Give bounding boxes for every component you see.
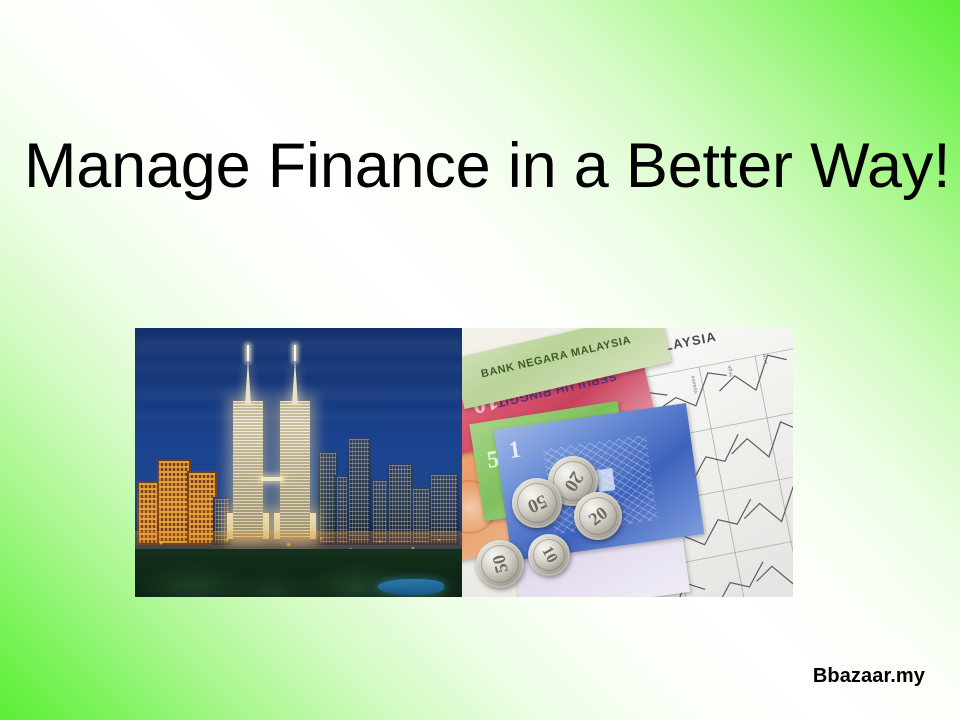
footer-brand: Bbazaar.my — [813, 665, 925, 688]
petronas-pinnacle — [247, 345, 249, 361]
petronas-tower-two — [280, 401, 310, 539]
ringgit-currency-photo: BURSA MALAYSIA Volume High Low 10 SEPULU… — [462, 328, 793, 597]
petronas-spire — [292, 359, 298, 405]
kuala-lumpur-skyline-photo — [135, 328, 462, 597]
finance-collage-image: BURSA MALAYSIA Volume High Low 10 SEPULU… — [135, 328, 793, 597]
cloud-band — [135, 386, 462, 400]
petronas-spire — [245, 359, 251, 405]
petronas-pinnacle — [294, 345, 296, 361]
petronas-tower-one — [233, 401, 263, 539]
banknote-denomination: 1 — [507, 437, 523, 465]
sen-coin: 50 — [476, 540, 524, 588]
cloud-band — [135, 362, 462, 373]
city-building — [347, 437, 371, 545]
cloud-band — [135, 338, 462, 354]
sen-coin: 10 — [528, 534, 570, 576]
petronas-skybridge — [261, 477, 283, 481]
park-lake — [378, 579, 444, 595]
sen-coin: 20 — [574, 492, 622, 540]
sen-coin: 50 — [512, 478, 562, 528]
page-title: Manage Finance in a Better Way! — [24, 135, 936, 198]
presentation-slide: Manage Finance in a Better Way! — [0, 0, 960, 720]
